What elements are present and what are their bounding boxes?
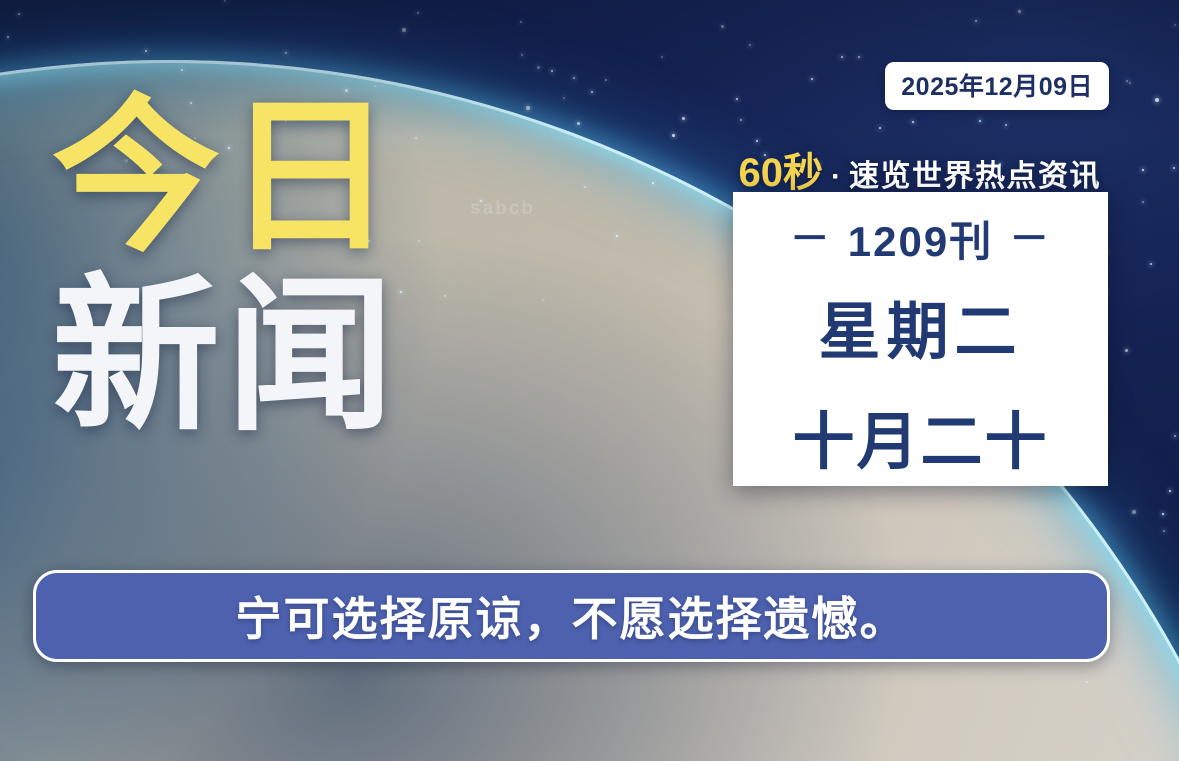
weekday-label: 星期二 [818, 281, 1022, 371]
info-card: － 1209刊 － 星期二 十月二十 [733, 192, 1108, 486]
quote-text: 宁可选择原谅，不愿选择遗憾。 [236, 583, 908, 649]
tagline: 60秒 · 速览世界热点资讯 [739, 140, 1102, 198]
poster-title: 今日 新闻 [52, 96, 400, 438]
issue-row: － 1209刊 － [790, 208, 1051, 269]
title-line-today: 今日 [52, 96, 400, 259]
tagline-slogan: 速览世界热点资讯 [849, 151, 1101, 195]
issue-dash-left: － [790, 219, 832, 259]
issue-number: 1209刊 [848, 208, 993, 269]
issue-dash-right: － [1009, 219, 1051, 259]
title-line-news: 新闻 [52, 275, 400, 438]
quote-bar: 宁可选择原谅，不愿选择遗憾。 [33, 570, 1110, 662]
date-badge: 2025年12月09日 [885, 62, 1109, 110]
lunar-date-label: 十月二十 [792, 391, 1048, 481]
tagline-separator-dot: · [829, 160, 843, 194]
tagline-seconds: 60秒 [739, 140, 824, 198]
news-poster: sabcb 今日 新闻 2025年12月09日 60秒 · 速览世界热点资讯 －… [0, 0, 1179, 761]
